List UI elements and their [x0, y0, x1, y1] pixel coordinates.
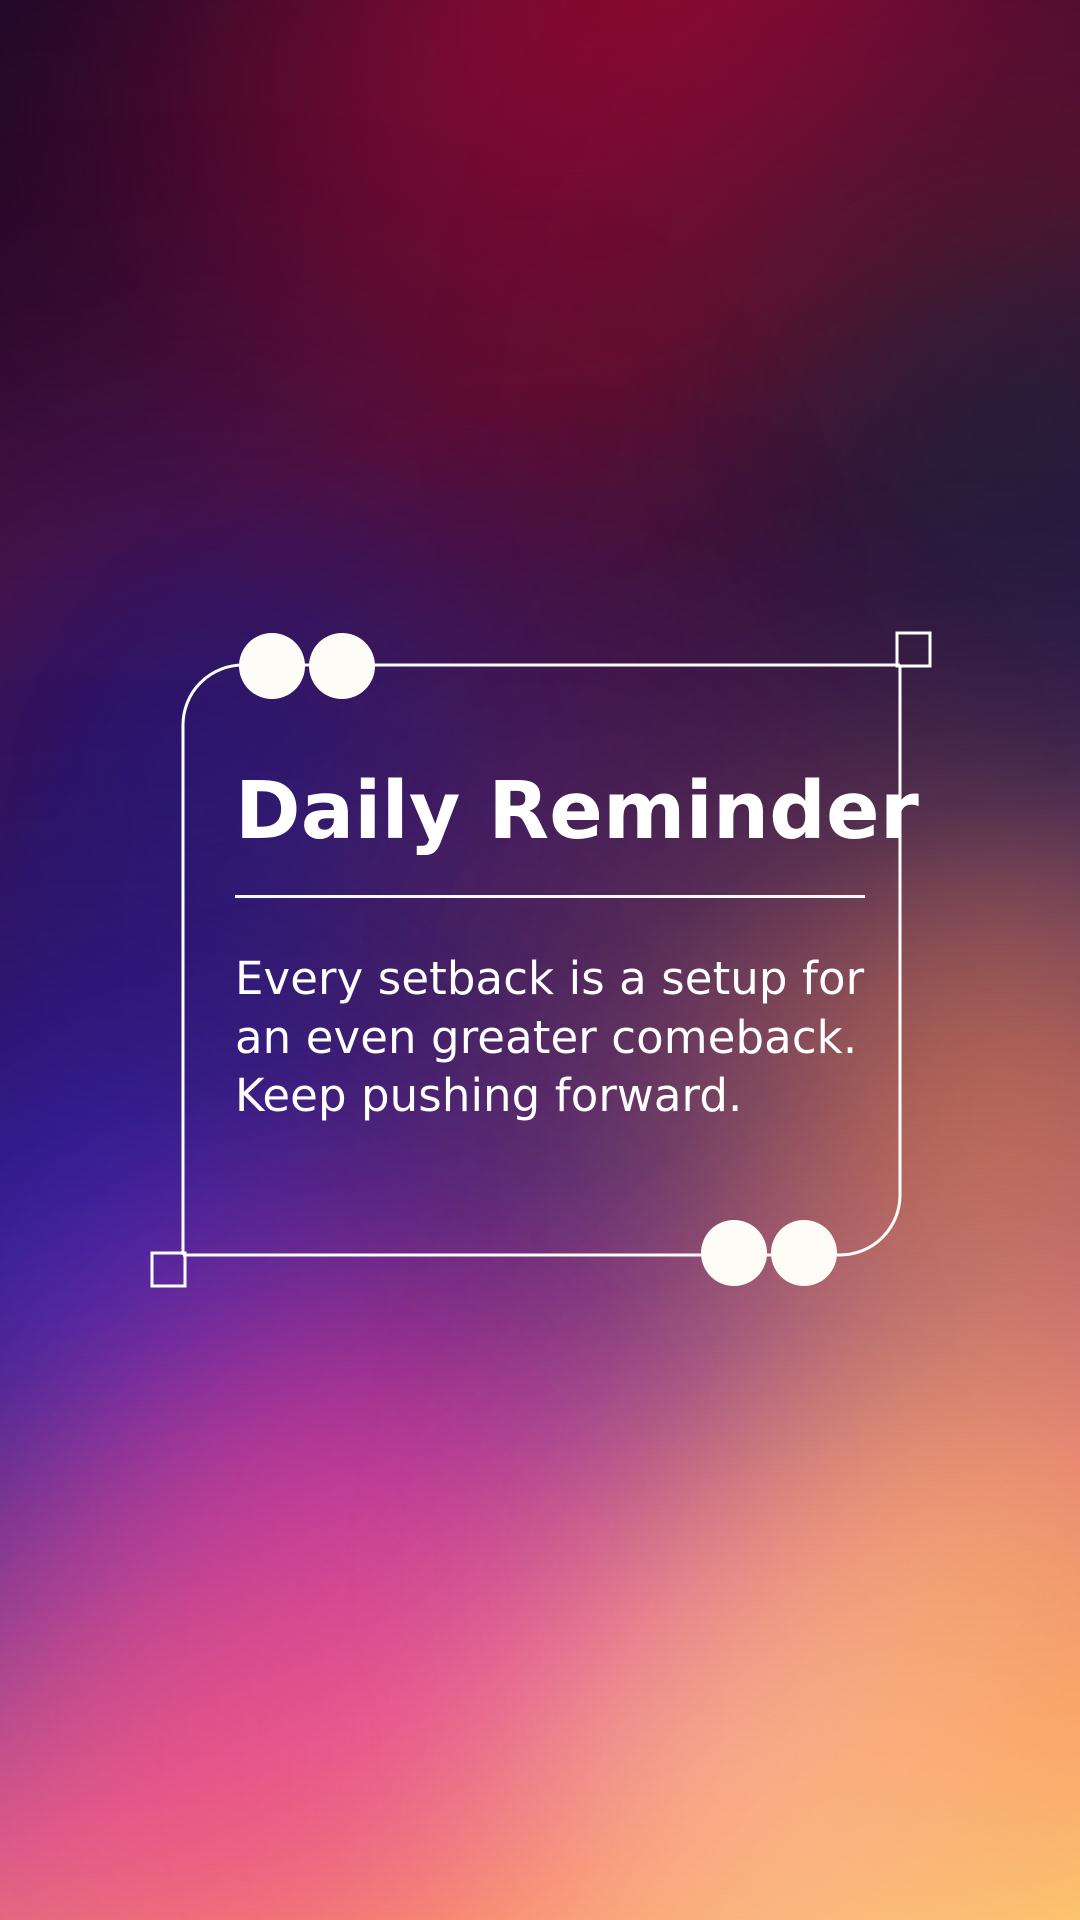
title-divider [235, 895, 865, 898]
dot-bottom-right-a [701, 1220, 767, 1286]
top-right-square [897, 633, 930, 666]
body-line-1: Every setback is a setup for [235, 950, 875, 1009]
card-content: Daily Reminder Every setback is a setup … [235, 772, 875, 1126]
card-title: Daily Reminder [235, 772, 875, 851]
dot-bottom-right-b [771, 1220, 837, 1286]
body-line-3: Keep pushing forward. [235, 1067, 875, 1126]
dot-top-left-b [309, 633, 375, 699]
dot-top-left-a [239, 633, 305, 699]
poster-canvas: Daily Reminder Every setback is a setup … [0, 0, 1080, 1920]
body-line-2: an even greater comeback. [235, 1009, 875, 1068]
bottom-left-square [152, 1253, 185, 1286]
card-body-text: Every setback is a setup for an even gre… [235, 950, 875, 1126]
